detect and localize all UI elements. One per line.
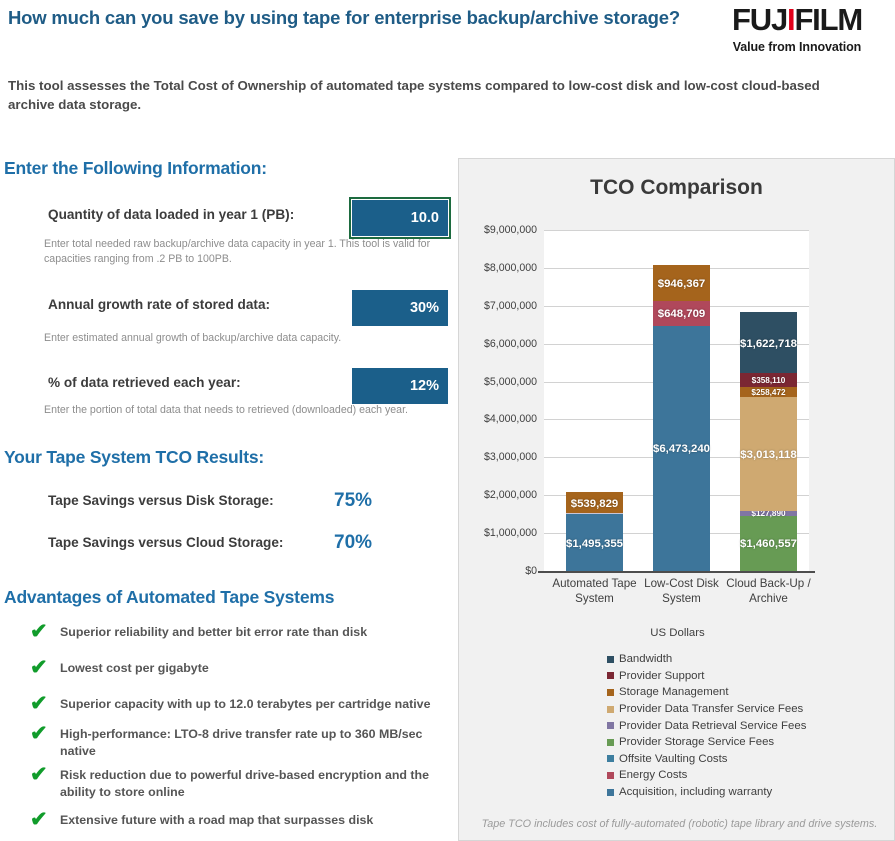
result-row-disk: Tape Savings versus Disk Storage: 75% xyxy=(48,490,448,516)
bar-segment-label: $648,709 xyxy=(653,308,710,320)
bar-segment-label: $539,829 xyxy=(566,498,623,510)
legend-label: Acquisition, including warranty xyxy=(619,786,772,798)
bar-segment-label: $1,622,718 xyxy=(740,338,797,350)
legend-item[interactable]: Bandwidth xyxy=(607,651,806,668)
legend-swatch xyxy=(607,656,614,663)
input-row-quantity: Quantity of data loaded in year 1 (PB): … xyxy=(48,200,448,236)
check-icon: ✔ xyxy=(30,658,52,680)
result-row-cloud: Tape Savings versus Cloud Storage: 70% xyxy=(48,532,448,558)
legend-label: Provider Support xyxy=(619,670,704,682)
legend-swatch xyxy=(607,706,614,713)
y-axis-tick-label: $4,000,000 xyxy=(484,413,537,425)
bar-segment-label: $1,460,557 xyxy=(740,538,797,550)
check-icon: ✔ xyxy=(30,724,52,746)
input-row-growth-rate: Annual growth rate of stored data: 30% xyxy=(48,290,448,326)
bar-segment-label: $3,013,118 xyxy=(740,449,797,461)
logo-text-part2: FILM xyxy=(794,2,862,37)
check-icon: ✔ xyxy=(30,622,52,644)
legend-swatch xyxy=(607,689,614,696)
logo-wordmark: FUJIFILM xyxy=(707,4,887,35)
legend-label: Provider Data Transfer Service Fees xyxy=(619,703,803,715)
y-axis-tick-label: $8,000,000 xyxy=(484,262,537,274)
fujifilm-logo: FUJIFILM Value from Innovation xyxy=(707,4,887,54)
input-help-quantity: Enter total needed raw backup/archive da… xyxy=(44,237,444,267)
chart-plot-area: $9,000,000$8,000,000$7,000,000$6,000,000… xyxy=(544,230,809,571)
chart-axis-title: US Dollars xyxy=(459,627,895,639)
bar-segment-label: $6,473,240 xyxy=(653,443,710,455)
chart-legend: BandwidthProvider SupportStorage Managem… xyxy=(607,651,806,800)
x-axis-category-label: Cloud Back-Up / Archive xyxy=(714,577,824,607)
result-value-cloud: 70% xyxy=(334,532,372,554)
result-label-disk: Tape Savings versus Disk Storage: xyxy=(48,493,274,508)
y-axis-tick-label: $3,000,000 xyxy=(484,451,537,463)
advantage-text: Extensive future with a road map that su… xyxy=(60,812,460,829)
legend-swatch xyxy=(607,672,614,679)
legend-label: Provider Data Retrieval Service Fees xyxy=(619,720,806,732)
check-icon: ✔ xyxy=(30,694,52,716)
bar-segment-label: $258,472 xyxy=(740,388,797,397)
input-row-retrieval: % of data retrieved each year: 12% xyxy=(48,368,448,404)
y-axis-tick-label: $5,000,000 xyxy=(484,376,537,388)
inputs-heading: Enter the Following Information: xyxy=(4,158,267,179)
check-icon: ✔ xyxy=(30,810,52,832)
advantage-text: Risk reduction due to powerful drive-bas… xyxy=(60,767,460,800)
gridline xyxy=(544,230,809,231)
legend-label: Energy Costs xyxy=(619,769,687,781)
legend-swatch xyxy=(607,772,614,779)
y-axis-tick-label: $2,000,000 xyxy=(484,489,537,501)
advantage-text: Superior reliability and better bit erro… xyxy=(60,624,460,641)
page-subtitle: This tool assesses the Total Cost of Own… xyxy=(8,77,823,115)
tco-calculator-page: How much can you save by using tape for … xyxy=(0,0,895,841)
check-icon: ✔ xyxy=(30,765,52,787)
legend-swatch xyxy=(607,739,614,746)
logo-tagline: Value from Innovation xyxy=(707,40,887,54)
legend-label: Storage Management xyxy=(619,686,729,698)
legend-label: Offsite Vaulting Costs xyxy=(619,753,727,765)
tco-chart-panel: TCO Comparison $9,000,000$8,000,000$7,00… xyxy=(458,158,895,841)
retrieval-percent-input[interactable]: 12% xyxy=(352,368,448,404)
legend-label: Provider Storage Service Fees xyxy=(619,736,774,748)
bar-segment-label: $1,495,355 xyxy=(566,538,623,550)
input-label-quantity: Quantity of data loaded in year 1 (PB): xyxy=(48,207,294,222)
advantage-text: High-performance: LTO-8 drive transfer r… xyxy=(60,726,460,759)
chart-bar: $1,460,557$127,890$3,013,118$258,472$358… xyxy=(740,312,797,571)
y-axis-tick-label: $9,000,000 xyxy=(484,224,537,236)
bar-segment xyxy=(566,513,623,515)
bar-segment-label: $358,110 xyxy=(740,376,797,385)
legend-item[interactable]: Storage Management xyxy=(607,684,806,701)
quantity-input[interactable]: 10.0 xyxy=(352,200,448,236)
chart-bar: $6,473,240$648,709$946,367 xyxy=(653,265,710,571)
advantages-heading: Advantages of Automated Tape Systems xyxy=(4,587,334,608)
page-title: How much can you save by using tape for … xyxy=(8,6,698,29)
legend-item[interactable]: Provider Data Transfer Service Fees xyxy=(607,701,806,718)
input-label-retrieval: % of data retrieved each year: xyxy=(48,375,241,390)
legend-item[interactable]: Provider Data Retrieval Service Fees xyxy=(607,717,806,734)
result-label-cloud: Tape Savings versus Cloud Storage: xyxy=(48,535,283,550)
legend-item[interactable]: Acquisition, including warranty xyxy=(607,784,806,801)
bar-segment-label: $946,367 xyxy=(653,278,710,290)
chart-title: TCO Comparison xyxy=(459,176,894,200)
y-axis-tick-label: $7,000,000 xyxy=(484,300,537,312)
legend-item[interactable]: Provider Support xyxy=(607,668,806,685)
y-axis-tick-label: $1,000,000 xyxy=(484,527,537,539)
legend-item[interactable]: Offsite Vaulting Costs xyxy=(607,751,806,768)
chart-bar: $1,495,355$539,829 xyxy=(566,494,623,571)
input-help-growth-rate: Enter estimated annual growth of backup/… xyxy=(44,331,444,346)
logo-text-part1: FUJ xyxy=(732,2,787,37)
legend-item[interactable]: Energy Costs xyxy=(607,767,806,784)
input-help-retrieval: Enter the portion of total data that nee… xyxy=(44,403,444,418)
result-value-disk: 75% xyxy=(334,490,372,512)
chart-x-axis-line xyxy=(538,571,815,574)
legend-label: Bandwidth xyxy=(619,653,672,665)
advantage-text: Lowest cost per gigabyte xyxy=(60,660,460,677)
legend-swatch xyxy=(607,789,614,796)
legend-item[interactable]: Provider Storage Service Fees xyxy=(607,734,806,751)
legend-swatch xyxy=(607,755,614,762)
advantage-text: Superior capacity with up to 12.0 teraby… xyxy=(60,696,460,713)
chart-footnote: Tape TCO includes cost of fully-automate… xyxy=(467,818,892,830)
legend-swatch xyxy=(607,722,614,729)
y-axis-tick-label: $6,000,000 xyxy=(484,338,537,350)
y-axis-tick-label: $0 xyxy=(525,565,537,577)
growth-rate-input[interactable]: 30% xyxy=(352,290,448,326)
results-heading: Your Tape System TCO Results: xyxy=(4,447,264,468)
input-label-growth-rate: Annual growth rate of stored data: xyxy=(48,297,270,312)
